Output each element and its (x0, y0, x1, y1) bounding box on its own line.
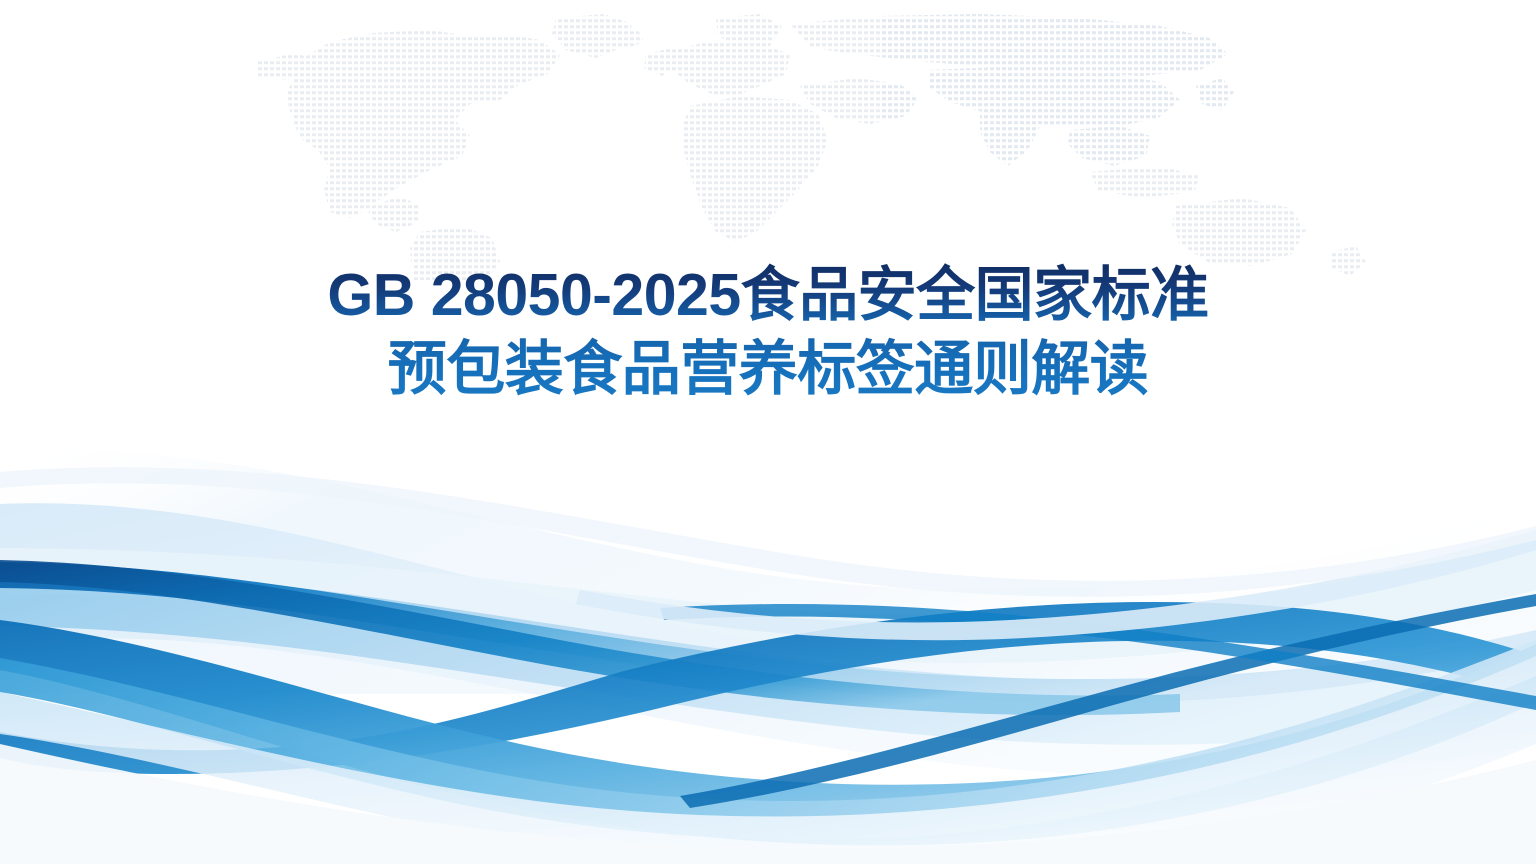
title-slide: GB 28050-2025食品安全国家标准 预包装食品营养标签通则解读 (0, 0, 1536, 864)
abstract-blue-wave-ribbons (0, 444, 1536, 864)
title-line-1: GB 28050-2025食品安全国家标准 (0, 262, 1536, 328)
title-line-2: 预包装食品营养标签通则解读 (0, 336, 1536, 402)
dotted-world-map (0, 0, 1536, 280)
page-title: GB 28050-2025食品安全国家标准 预包装食品营养标签通则解读 (0, 262, 1536, 402)
